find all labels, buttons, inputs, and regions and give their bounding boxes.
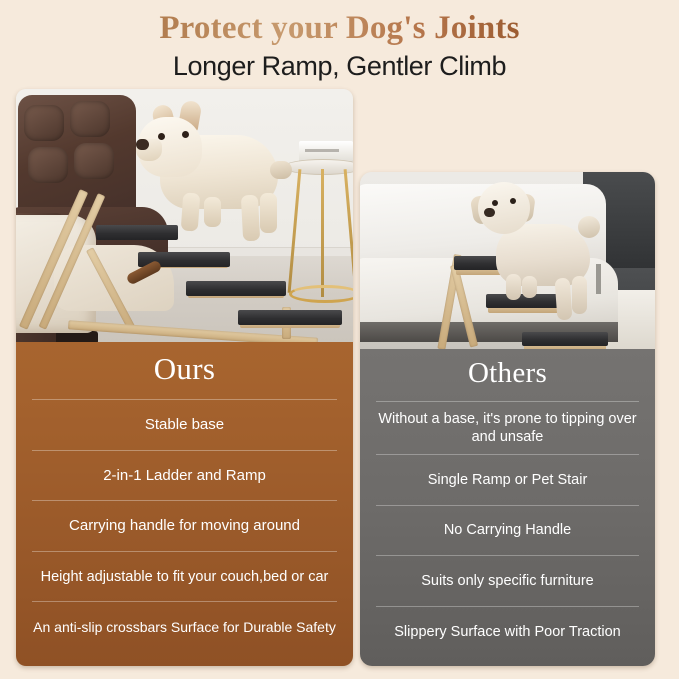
ours-feature-row: Height adjustable to fit your couch,bed … — [16, 552, 353, 602]
dog-tail — [270, 161, 292, 179]
stair-rail — [450, 264, 478, 347]
others-feature-row: No Carrying Handle — [360, 506, 655, 556]
dog-eye — [158, 133, 165, 140]
step-tread — [238, 310, 342, 325]
ours-heading: Ours — [16, 342, 353, 399]
others-heading: Others — [360, 349, 655, 401]
header: Protect your Dog's Joints Longer Ramp, G… — [0, 0, 679, 88]
page-title: Protect your Dog's Joints — [0, 10, 679, 47]
ours-panel: Ours Stable base 2-in-1 Ladder and Ramp … — [16, 89, 353, 666]
others-panel: Others Without a base, it's prone to tip… — [360, 172, 655, 666]
ours-feature-row: Stable base — [16, 400, 353, 450]
sofa-tuft — [70, 101, 110, 137]
others-product-photo — [360, 172, 655, 349]
table-top — [283, 159, 353, 175]
others-feature-row: Slippery Surface with Poor Traction — [360, 607, 655, 657]
sofa-tuft — [74, 143, 114, 179]
dog-leg — [555, 278, 573, 321]
dog-eye — [182, 131, 189, 138]
page-subtitle: Longer Ramp, Gentler Climb — [0, 51, 679, 82]
others-feature-row: Suits only specific furniture — [360, 556, 655, 606]
dog-leg — [506, 274, 521, 300]
dog-leg — [241, 195, 260, 242]
dog-nose — [484, 208, 495, 217]
others-feature-row: Single Ramp or Pet Stair — [360, 455, 655, 505]
sofa-tuft — [28, 147, 68, 183]
book-spine-detail — [305, 149, 339, 152]
dog-tail — [578, 216, 600, 238]
others-feature-table: Others Without a base, it's prone to tip… — [360, 349, 655, 666]
ours-product-photo — [16, 89, 353, 342]
dog-nose — [136, 139, 149, 150]
step-tread — [186, 281, 286, 296]
dog-leg — [204, 197, 221, 227]
step-tread — [522, 332, 608, 346]
support-leg — [86, 247, 136, 332]
dog-eye — [492, 200, 498, 206]
sofa-tuft — [24, 105, 64, 141]
dog-leg — [522, 276, 537, 298]
dog-leg — [572, 276, 587, 314]
others-feature-row: Without a base, it's prone to tipping ov… — [360, 402, 655, 454]
french-bulldog — [138, 109, 290, 231]
dog-leg — [260, 193, 277, 233]
ours-feature-row: 2-in-1 Ladder and Ramp — [16, 451, 353, 501]
dog-leg — [181, 192, 201, 231]
ours-feature-row: An anti-slip crossbars Surface for Durab… — [16, 602, 353, 652]
dog-eye — [510, 198, 516, 204]
poodle-dog — [478, 182, 600, 316]
ours-feature-table: Ours Stable base 2-in-1 Ladder and Ramp … — [16, 342, 353, 666]
ours-feature-row: Carrying handle for moving around — [16, 501, 353, 551]
